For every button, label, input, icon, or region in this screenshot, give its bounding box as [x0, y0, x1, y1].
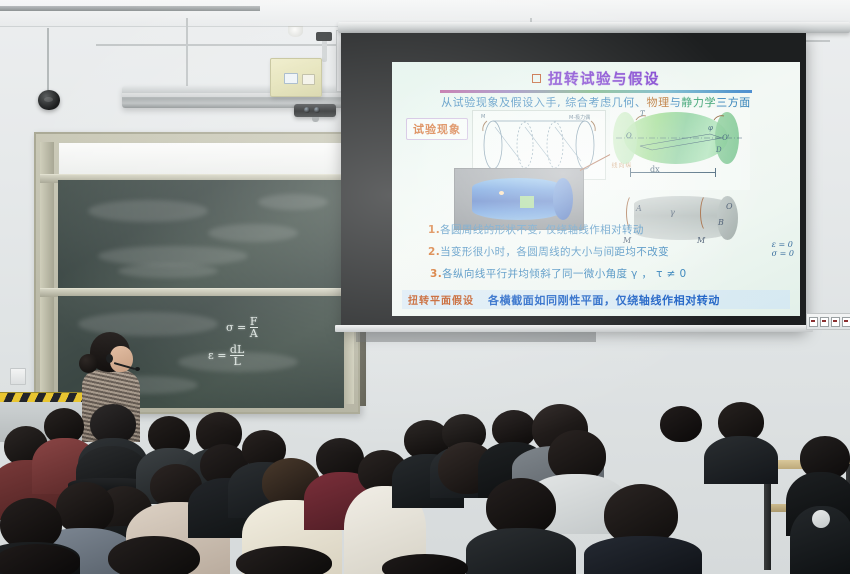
lighting-vignette [0, 0, 850, 574]
classroom-photo-scene: σ = F A ε = dL L 扭转试验与假设 从试验现象及假设入手, [0, 0, 850, 574]
